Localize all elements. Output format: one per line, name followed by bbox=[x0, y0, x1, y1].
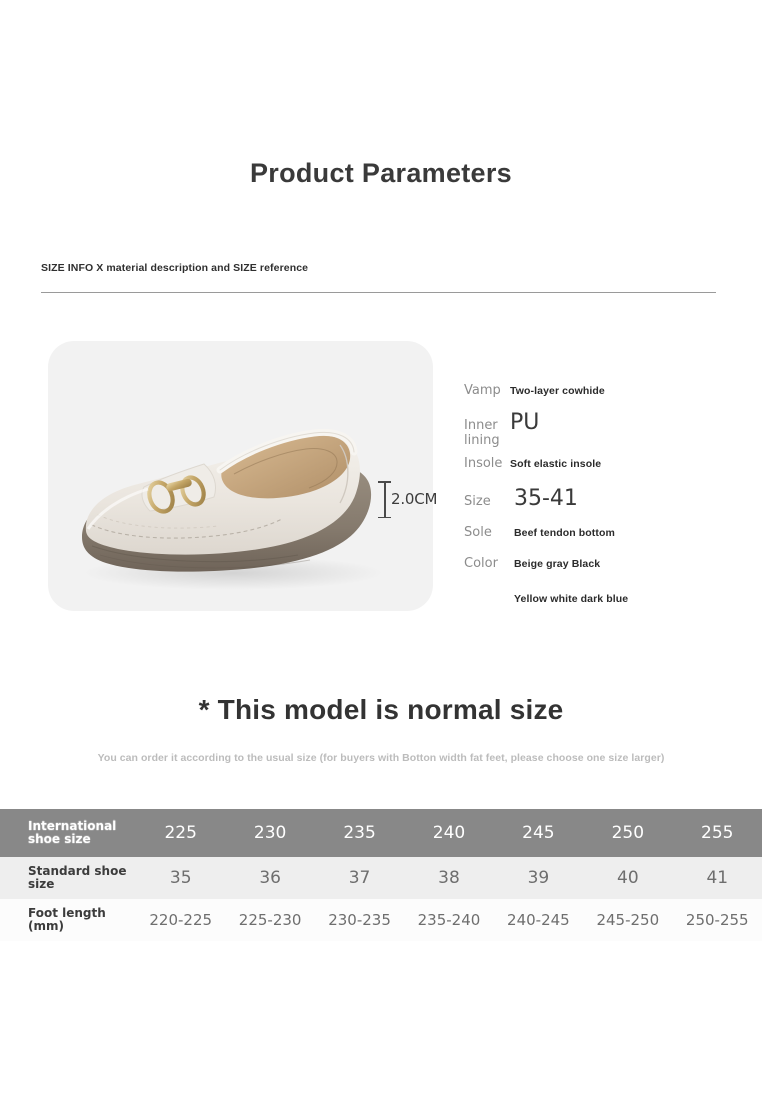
spec-value-inner-lining: PU bbox=[510, 410, 539, 435]
size-chart-table: International shoe size 225 230 235 240 … bbox=[0, 809, 762, 941]
table-rowlabel-footlength: Foot length (mm) bbox=[0, 899, 136, 941]
table-row: Foot length (mm) 220-225 225-230 230-235… bbox=[0, 899, 762, 941]
shoe-image bbox=[48, 341, 433, 611]
table-cell: 235-240 bbox=[404, 899, 493, 941]
spec-row-inner-lining: Inner lining PU bbox=[464, 410, 754, 448]
spec-row-vamp: Vamp Two-layer cowhide bbox=[464, 383, 754, 398]
table-cell: 255 bbox=[673, 809, 762, 857]
spec-value-color-line1: Beige gray Black bbox=[510, 558, 628, 570]
table-cell: 240 bbox=[404, 809, 493, 857]
normal-size-subtext: You can order it according to the usual … bbox=[0, 752, 762, 764]
dimension-marker-icon bbox=[378, 481, 392, 518]
spec-row-size: Size 35-41 bbox=[464, 486, 754, 511]
table-cell: 36 bbox=[225, 857, 314, 899]
section-note: SIZE INFO X material description and SIZ… bbox=[41, 262, 308, 274]
spec-value-color-line2: Yellow white dark blue bbox=[510, 593, 628, 605]
page-title: Product Parameters bbox=[0, 158, 762, 189]
table-cell: 245-250 bbox=[583, 899, 672, 941]
spec-value-vamp: Two-layer cowhide bbox=[510, 385, 605, 397]
table-cell: 225 bbox=[136, 809, 225, 857]
spec-label-inner-lining: Inner lining bbox=[464, 418, 510, 448]
shoe-illustration-svg bbox=[48, 341, 433, 611]
spec-row-insole: Insole Soft elastic insole bbox=[464, 456, 754, 471]
spec-label-color: Color bbox=[464, 556, 510, 571]
table-rowlabel-international: International shoe size bbox=[0, 809, 136, 857]
spec-value-size: 35-41 bbox=[510, 486, 578, 511]
table-cell: 225-230 bbox=[225, 899, 314, 941]
spec-label-sole: Sole bbox=[464, 525, 510, 540]
product-photo-card bbox=[48, 341, 433, 611]
table-cell: 235 bbox=[315, 809, 404, 857]
table-cell: 250 bbox=[583, 809, 672, 857]
table-cell: 39 bbox=[494, 857, 583, 899]
dimension-label: 2.0CM bbox=[391, 490, 437, 508]
spec-label-size: Size bbox=[464, 494, 510, 509]
table-row: Standard shoe size 35 36 37 38 39 40 41 bbox=[0, 857, 762, 899]
table-cell: 245 bbox=[494, 809, 583, 857]
spec-label-vamp: Vamp bbox=[464, 383, 510, 398]
table-cell: 41 bbox=[673, 857, 762, 899]
table-cell: 38 bbox=[404, 857, 493, 899]
table-cell: 230-235 bbox=[315, 899, 404, 941]
table-row: International shoe size 225 230 235 240 … bbox=[0, 809, 762, 857]
table-cell: 230 bbox=[225, 809, 314, 857]
normal-size-headline: * This model is normal size bbox=[0, 694, 762, 726]
table-cell: 35 bbox=[136, 857, 225, 899]
table-cell: 240-245 bbox=[494, 899, 583, 941]
table-rowlabel-standard: Standard shoe size bbox=[0, 857, 136, 899]
table-cell: 37 bbox=[315, 857, 404, 899]
spec-row-color: Color Beige gray Black Yellow white dark… bbox=[464, 556, 754, 605]
spec-list: Vamp Two-layer cowhide Inner lining PU I… bbox=[464, 383, 754, 605]
spec-value-sole: Beef tendon bottom bbox=[510, 527, 615, 539]
table-cell: 40 bbox=[583, 857, 672, 899]
spec-value-insole: Soft elastic insole bbox=[510, 458, 601, 470]
spec-row-sole: Sole Beef tendon bottom bbox=[464, 525, 754, 540]
table-cell: 220-225 bbox=[136, 899, 225, 941]
table-cell: 250-255 bbox=[673, 899, 762, 941]
spec-label-insole: Insole bbox=[464, 456, 510, 471]
section-divider bbox=[41, 292, 716, 293]
